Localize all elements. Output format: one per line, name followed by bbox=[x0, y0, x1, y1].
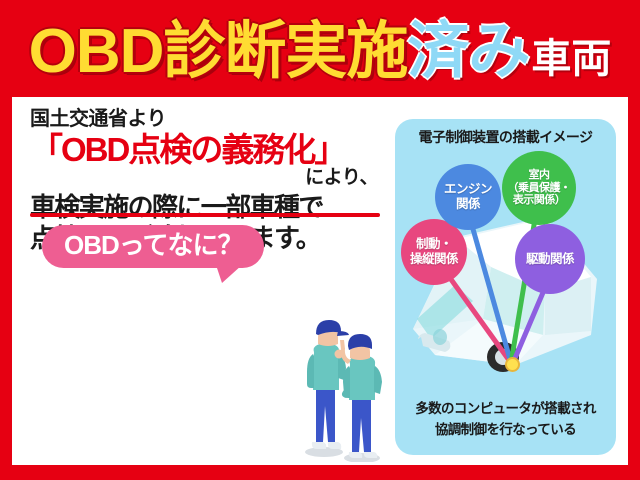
node-engine[interactable]: エンジン 関係 bbox=[435, 164, 501, 230]
node-drive[interactable]: 駆動関係 bbox=[515, 224, 585, 294]
bubble-tail-icon bbox=[216, 265, 242, 283]
header-banner-text: OBD診断実施済み車両 bbox=[29, 21, 612, 83]
banner-segment-white: 車両 bbox=[531, 39, 611, 79]
person-with-cap-icon bbox=[307, 320, 349, 449]
cap-b: B bbox=[76, 277, 87, 294]
lead-line-3: により、 bbox=[30, 168, 382, 189]
ecu-diagram-panel: 電子制御装置の搭載イメージ bbox=[395, 119, 616, 455]
node-brake-line1: 制動・ bbox=[416, 237, 452, 251]
content-card: 国土交通省より 「OBD点検の義務化」 により、 車検実施の際に一部車種で 点検… bbox=[12, 97, 628, 465]
node-indoor-line3: 表示関係） bbox=[513, 194, 566, 206]
node-brake-line2: 操縦関係 bbox=[410, 252, 458, 266]
obd-explainer: OBDってなに？ On Board Diagnostics の 頭文字をとったも… bbox=[34, 225, 324, 358]
node-indoor-line1: 室内 bbox=[529, 169, 550, 181]
ecu-footer-line-1: 多数のコンピュータが搭載され bbox=[415, 401, 596, 416]
ecu-footer-line-2: 協調制御を行なっている bbox=[435, 422, 576, 437]
lead-line-2-highlight: 「OBD点検の義務化」 bbox=[30, 132, 382, 168]
node-indoor[interactable]: 室内 （乗員保護・ 表示関係） bbox=[502, 151, 576, 225]
obd-question-label: OBDってなに？ bbox=[64, 231, 242, 261]
person-pointing-icon bbox=[340, 334, 382, 458]
definition-line-1: On Board Diagnostics の bbox=[52, 274, 306, 298]
poster-root: OBD診断実施済み車両 国土交通省より 「OBD点検の義務化」 により、 車検実… bbox=[0, 0, 640, 480]
obd-definition-box: On Board Diagnostics の 頭文字をとったもので日本語にすると… bbox=[34, 254, 322, 358]
obd-question-bubble: OBDってなに？ bbox=[42, 225, 264, 268]
def-rest-2: oard bbox=[87, 277, 122, 294]
def-rest-1: n bbox=[63, 277, 76, 294]
banner-segment-blue: 済み bbox=[407, 21, 529, 83]
node-brake[interactable]: 制動・ 操縦関係 bbox=[401, 219, 467, 285]
def-rest-3: iagnostics の bbox=[132, 277, 222, 294]
ecu-hub-dot-icon bbox=[505, 357, 520, 372]
node-engine-line1: エンジン bbox=[444, 182, 492, 196]
node-brake-label: 制動・ 操縦関係 bbox=[410, 237, 458, 267]
node-engine-label: エンジン 関係 bbox=[444, 182, 492, 212]
section-divider bbox=[30, 213, 380, 217]
node-drive-label: 駆動関係 bbox=[526, 252, 574, 267]
definition-line-3: 「車載故障診断装置」です。 bbox=[52, 321, 306, 344]
cap-o: O bbox=[52, 277, 63, 294]
header-banner: OBD診断実施済み車両 bbox=[0, 0, 640, 97]
node-indoor-label: 室内 （乗員保護・ 表示関係） bbox=[508, 169, 571, 208]
definition-line-2: 頭文字をとったもので日本語にすると bbox=[52, 298, 306, 321]
lead-line-4: 車検実施の際に一部車種で bbox=[30, 192, 382, 224]
people-illustration bbox=[294, 302, 386, 462]
cap-d: D bbox=[122, 277, 133, 294]
lead-line-1: 国土交通省より bbox=[30, 109, 382, 130]
node-engine-line2: 関係 bbox=[456, 197, 480, 211]
ecu-panel-footer: 多数のコンピュータが搭載され 協調制御を行なっている bbox=[395, 399, 616, 441]
banner-segment-yellow: OBD診断実施 bbox=[29, 21, 408, 83]
node-indoor-line2: （乗員保護・ bbox=[508, 182, 571, 194]
left-column: 国土交通省より 「OBD点検の義務化」 により、 車検実施の際に一部車種で 点検… bbox=[12, 97, 384, 465]
